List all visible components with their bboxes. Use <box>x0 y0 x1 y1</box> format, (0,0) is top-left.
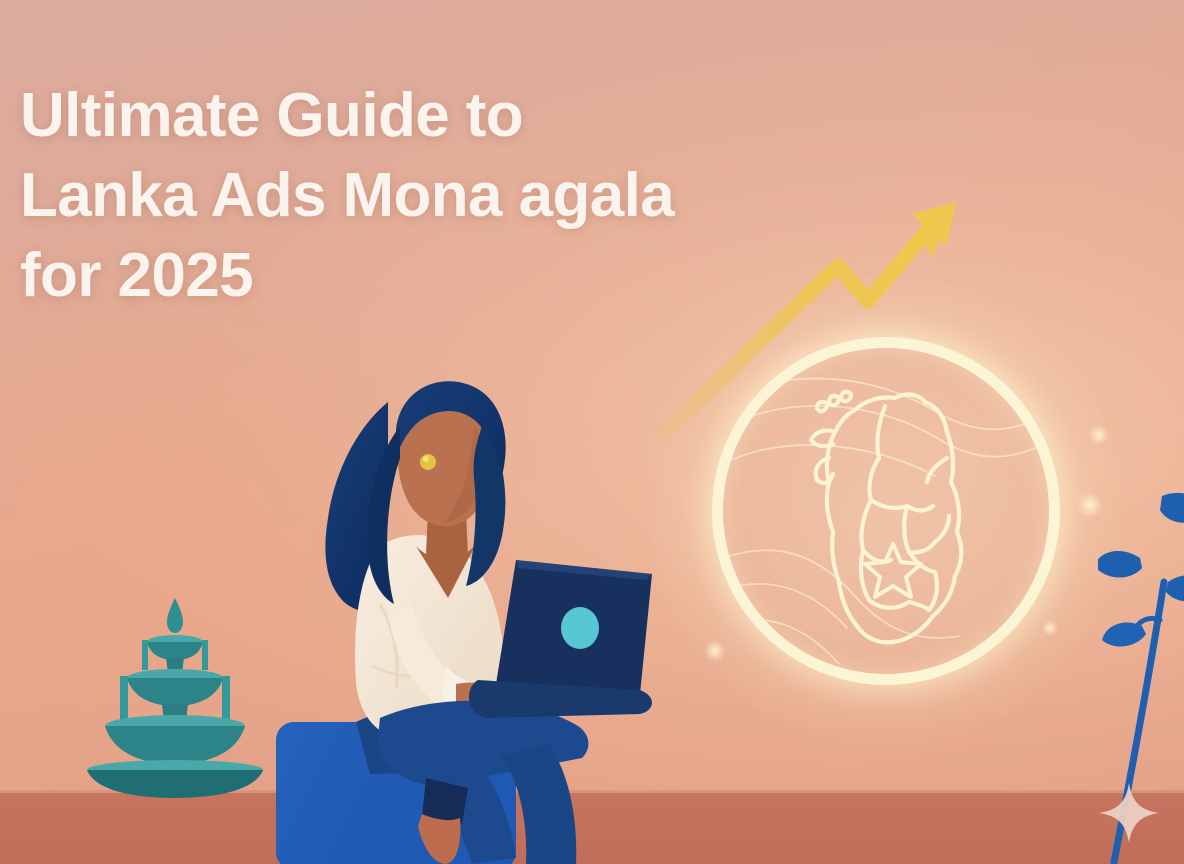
tiered-fountain <box>82 596 268 798</box>
laptop-logo <box>561 607 599 649</box>
woman-with-laptop-scene <box>260 366 680 864</box>
hero-banner: Ultimate Guide to Lanka Ads Mona agala f… <box>0 0 1184 864</box>
sri-lanka-map-badge <box>712 337 1060 685</box>
page-title: Ultimate Guide to Lanka Ads Mona agala f… <box>20 76 800 316</box>
badge-ring <box>712 337 1060 685</box>
earring <box>420 454 436 470</box>
four-point-sparkle-icon <box>1098 782 1160 844</box>
